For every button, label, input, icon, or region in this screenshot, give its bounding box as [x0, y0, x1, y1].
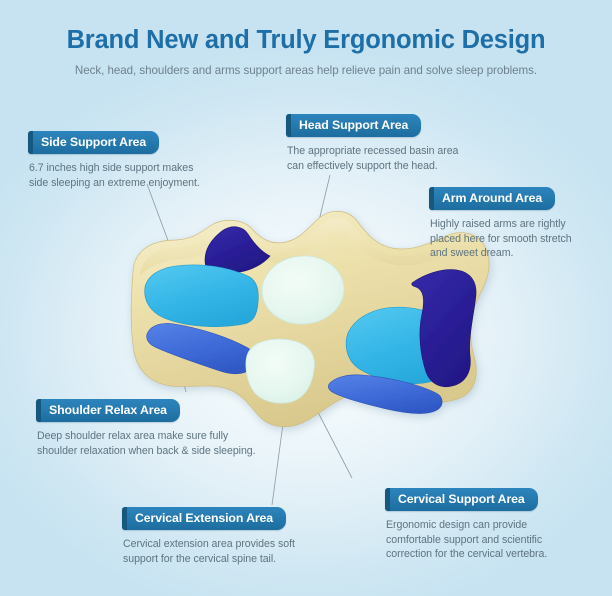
description-cervical-support: Ergonomic design can provide comfortable… [386, 518, 547, 562]
description-side-support: 6.7 inches high side support makes side … [29, 161, 200, 190]
badge-head-support[interactable]: Head Support Area [286, 114, 421, 137]
badge-cervical-support[interactable]: Cervical Support Area [385, 488, 538, 511]
description-arm-around: Highly raised arms are rightly placed he… [430, 217, 572, 261]
badge-shoulder-relax[interactable]: Shoulder Relax Area [36, 399, 180, 422]
description-shoulder-relax: Deep shoulder relax area make sure fully… [37, 429, 256, 458]
callout-side-support: Side Support Area 6.7 inches high side s… [28, 131, 200, 190]
callout-cervical-support: Cervical Support Area Ergonomic design c… [385, 488, 547, 562]
callout-head-support: Head Support Area The appropriate recess… [286, 114, 458, 173]
description-head-support: The appropriate recessed basin area can … [287, 144, 458, 173]
callout-shoulder-relax: Shoulder Relax Area Deep shoulder relax … [36, 399, 256, 458]
badge-cervical-extension[interactable]: Cervical Extension Area [122, 507, 286, 530]
description-cervical-extension: Cervical extension area provides soft su… [123, 537, 295, 566]
callout-cervical-extension: Cervical Extension Area Cervical extensi… [122, 507, 295, 566]
infographic-canvas: Brand New and Truly Ergonomic Design Nec… [0, 0, 612, 596]
badge-arm-around[interactable]: Arm Around Area [429, 187, 555, 210]
zone-cervical-extension-lobe [246, 339, 314, 403]
badge-side-support[interactable]: Side Support Area [28, 131, 159, 154]
callout-arm-around: Arm Around Area Highly raised arms are r… [429, 187, 572, 261]
